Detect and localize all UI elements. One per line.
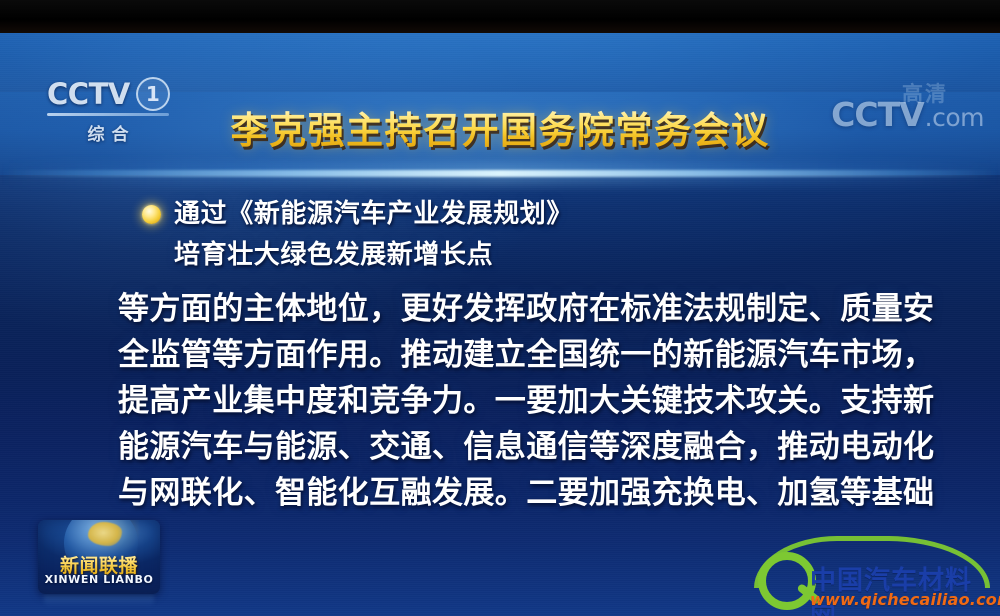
body-line: 与网联化、智能化互融发展。二要加强充换电、加氢等基础	[118, 470, 908, 516]
program-badge-reflection	[44, 594, 154, 606]
channel-number-badge: 1	[136, 77, 170, 111]
bullet-dot-icon	[142, 205, 161, 224]
subtitle-block: 通过《新能源汽车产业发展规划》 培育壮大绿色发展新增长点	[142, 194, 573, 276]
globe-landmass-icon	[88, 522, 122, 546]
site-watermark: 中国汽车材料网 www.qichecailiao.com	[748, 530, 996, 614]
tv-broadcast-screenshot: 李克强主持召开国务院常务会议 通过《新能源汽车产业发展规划》 培育壮大绿色发展新…	[0, 0, 1000, 616]
program-badge-xinwen-lianbo: 新闻联播 XINWEN LIANBO	[38, 520, 160, 594]
body-line: 全监管等方面作用。推动建立全国统一的新能源汽车市场，	[118, 332, 908, 378]
divider-line	[0, 170, 1000, 177]
cctv-com-main: CCTV	[831, 95, 924, 134]
subtitle-text-1: 通过《新能源汽车产业发展规划》	[174, 194, 573, 235]
cctv1-channel-logo: CCTV 1 综合	[47, 77, 170, 145]
cctv-com-suffix: .com	[925, 103, 984, 132]
program-name-en: XINWEN LIANBO	[38, 573, 160, 586]
site-url: www.qichecailiao.com	[810, 590, 1000, 609]
cctv1-logo-row: CCTV 1	[47, 77, 170, 111]
subtitle-line-1: 通过《新能源汽车产业发展规划》	[142, 194, 573, 235]
channel-sub-label: 综合	[47, 120, 169, 145]
cctv1-underline	[47, 113, 169, 116]
letterbox-bar-top	[0, 0, 1000, 33]
cctv-wordmark: CCTV	[47, 77, 130, 111]
body-text: 等方面的主体地位，更好发挥政府在标准法规制定、质量安 全监管等方面作用。推动建立…	[118, 286, 908, 516]
body-line: 等方面的主体地位，更好发挥政府在标准法规制定、质量安	[118, 286, 908, 332]
body-line: 提高产业集中度和竞争力。一要加大关键技术攻关。支持新	[118, 378, 908, 424]
cctv-com-watermark: CCTV .com	[831, 95, 984, 134]
q-letter-icon	[758, 552, 816, 610]
subtitle-text-2: 培育壮大绿色发展新增长点	[174, 235, 573, 276]
body-line: 能源汽车与能源、交通、信息通信等深度融合，推动电动化	[118, 424, 908, 470]
